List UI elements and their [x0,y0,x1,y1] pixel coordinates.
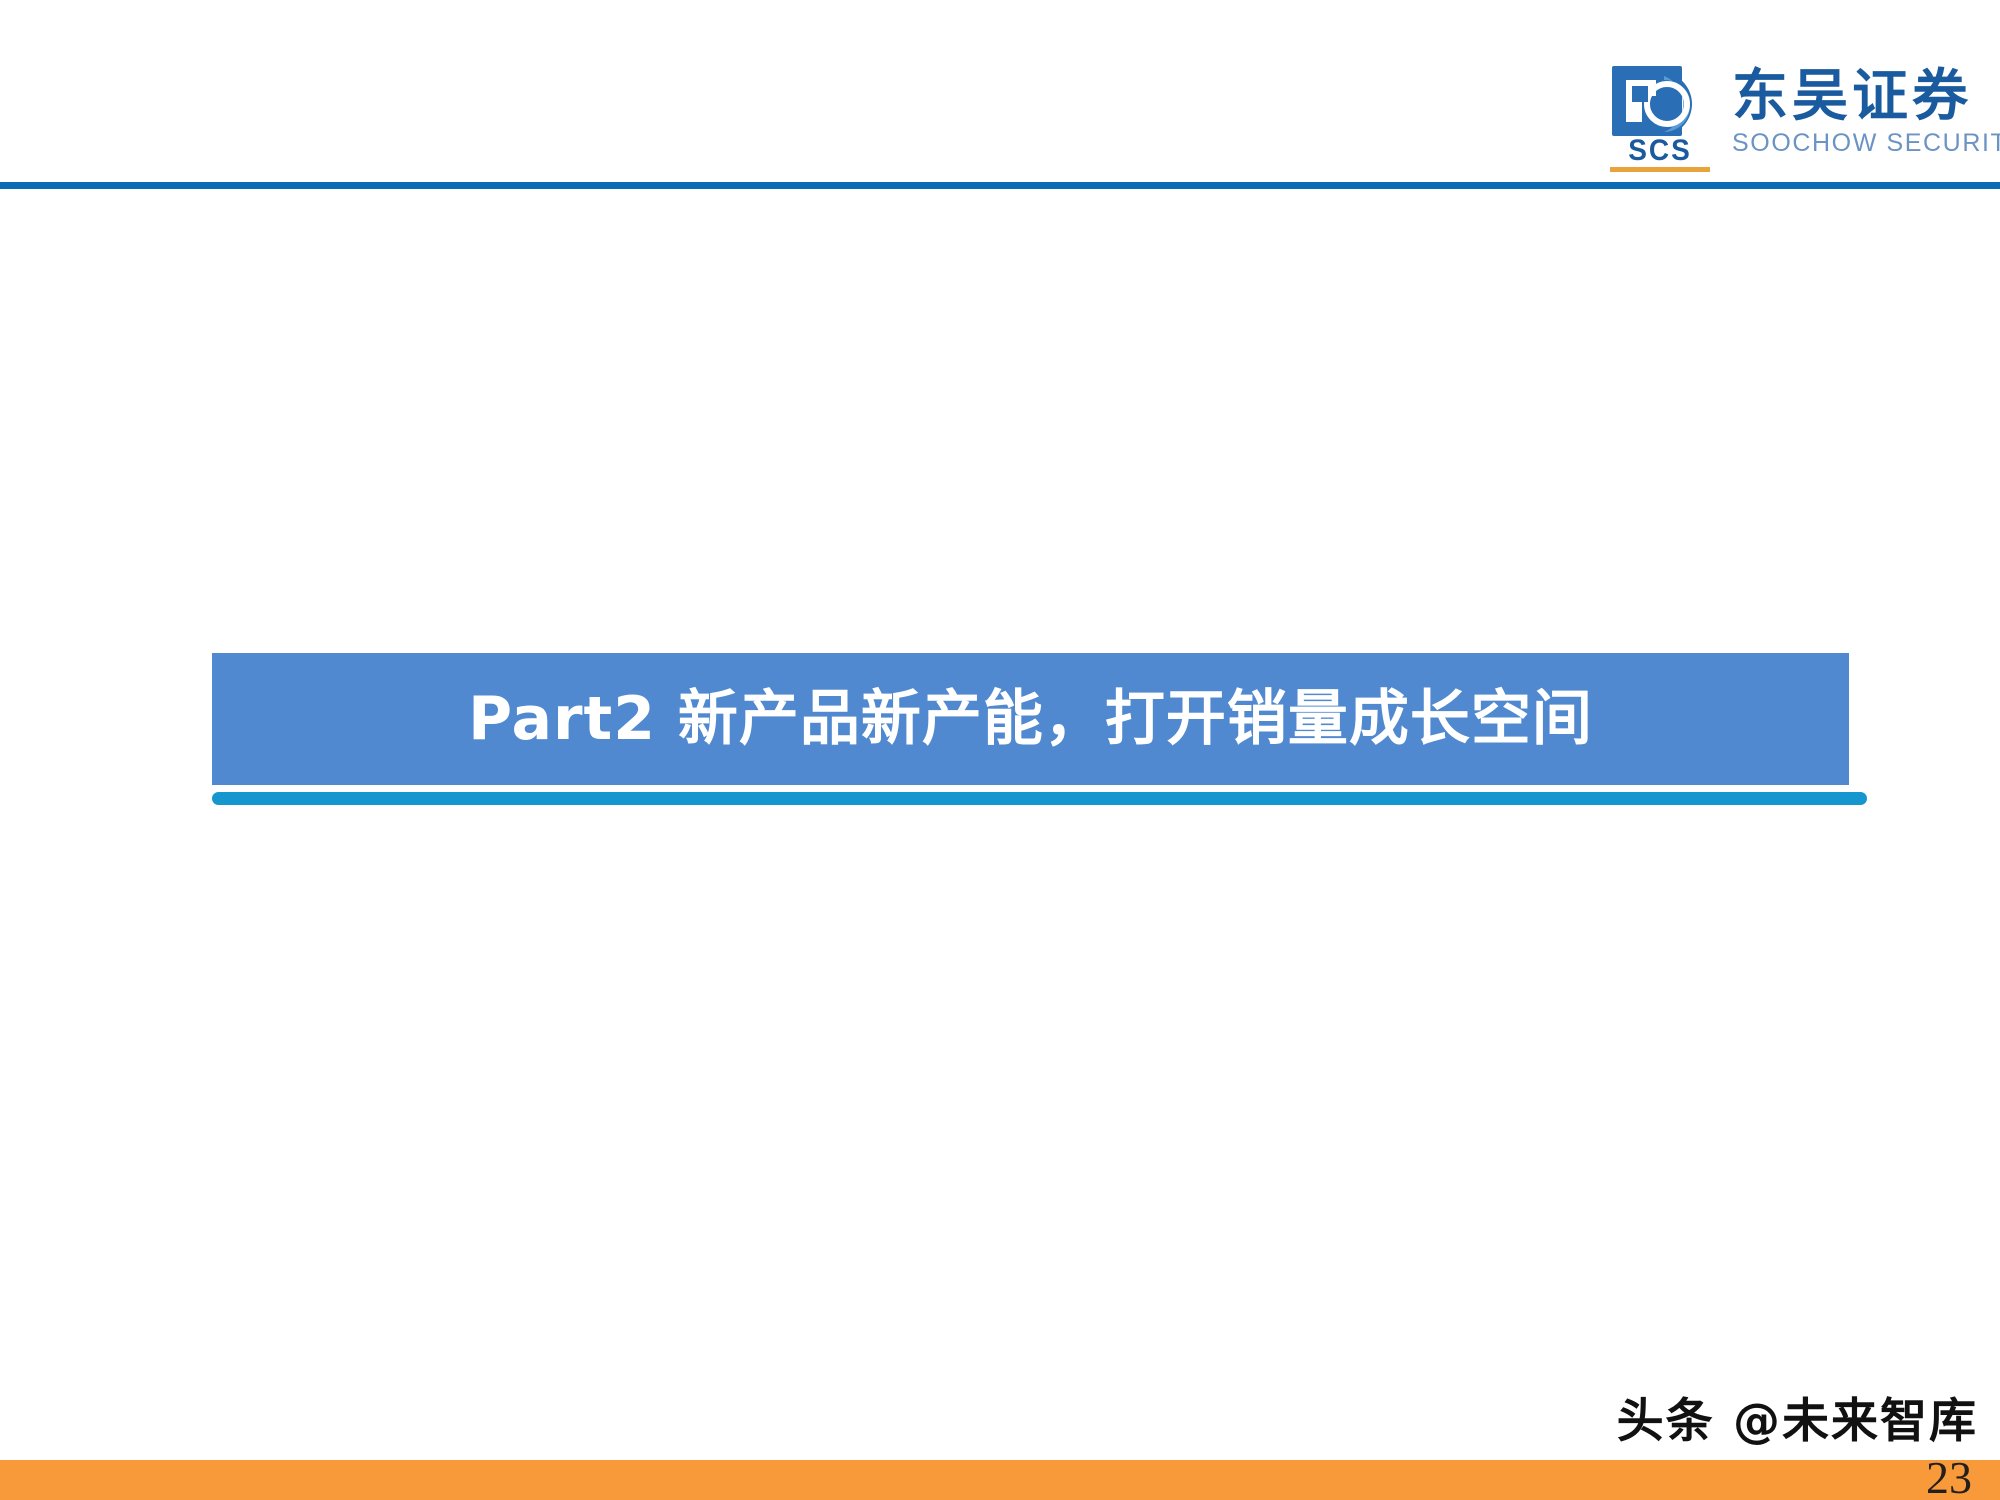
section-banner-underline [212,792,1867,805]
scs-swirl-logo-icon [1612,66,1696,140]
company-logo: SCS 东吴证券 SOOCHOW SECURITIES [1608,62,1988,174]
logo-company-name-en: SOOCHOW SECURITIES [1732,130,2000,158]
section-title: Part2 新产品新产能，打开销量成长空间 [468,689,1593,749]
logo-wordmark: 东吴证券 SOOCHOW SECURITIES [1732,62,2000,157]
logo-accent-rule [1610,167,1710,172]
logo-abbreviation: SCS [1608,136,1712,165]
page-number: 23 [1926,1455,1972,1500]
section-banner: Part2 新产品新产能，打开销量成长空间 [212,653,1849,785]
slide-canvas: SCS 东吴证券 SOOCHOW SECURITIES Part2 新产品新产能… [0,0,2000,1500]
watermark: 头条 @未来智库 [1617,1398,1978,1445]
logo-mark: SCS [1608,62,1720,174]
logo-company-name-cn: 东吴证券 [1732,68,2000,127]
header-divider [0,182,2000,189]
footer-bar [0,1460,2000,1500]
